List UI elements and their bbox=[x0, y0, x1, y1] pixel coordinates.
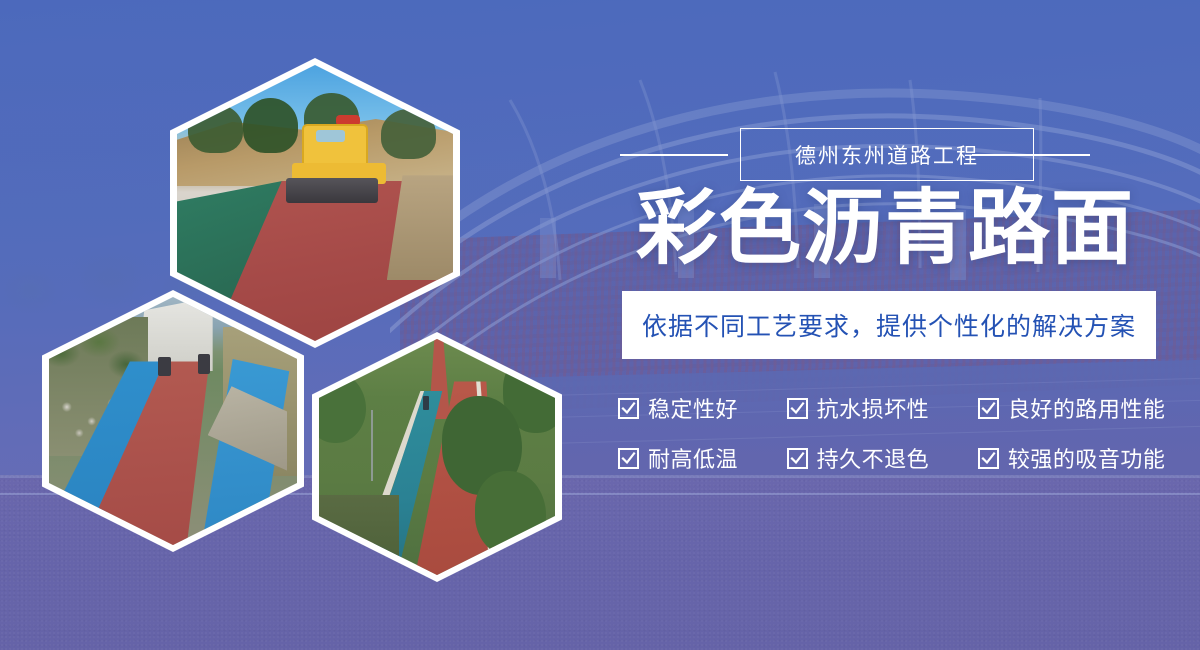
eyebrow-label: 德州东州道路工程 bbox=[795, 140, 979, 170]
feature-item: 抗水损坏性 bbox=[787, 392, 952, 424]
feature-label: 稳定性好 bbox=[648, 392, 738, 424]
feature-item: 良好的路用性能 bbox=[978, 392, 1188, 424]
check-icon bbox=[978, 398, 999, 419]
check-icon bbox=[787, 448, 808, 469]
brand-eyebrow: 德州东州道路工程 bbox=[620, 128, 1090, 182]
feature-item: 稳定性好 bbox=[618, 392, 761, 424]
feature-item: 耐高低温 bbox=[618, 442, 761, 474]
check-icon bbox=[978, 448, 999, 469]
eyebrow-rule-right bbox=[972, 154, 1090, 156]
road-roller-vehicle bbox=[290, 120, 389, 214]
feature-label: 耐高低温 bbox=[648, 442, 738, 474]
promo-banner: 德州东州道路工程 彩色沥青路面 依据不同工艺要求，提供个性化的解决方案 稳定性好… bbox=[0, 0, 1200, 650]
photo-road-roller-image bbox=[177, 65, 453, 341]
check-icon bbox=[618, 448, 639, 469]
subtitle-text: 依据不同工艺要求，提供个性化的解决方案 bbox=[642, 307, 1136, 343]
page-title: 彩色沥青路面 bbox=[636, 188, 1134, 270]
photo-park-greenway-image bbox=[319, 339, 555, 575]
photo-red-blue-lane-image bbox=[49, 297, 297, 545]
subtitle-band: 依据不同工艺要求，提供个性化的解决方案 bbox=[622, 291, 1156, 359]
feature-label: 抗水损坏性 bbox=[817, 392, 930, 424]
feature-item: 较强的吸音功能 bbox=[978, 442, 1188, 474]
feature-label: 持久不退色 bbox=[817, 442, 930, 474]
check-icon bbox=[618, 398, 639, 419]
check-icon bbox=[787, 398, 808, 419]
feature-item: 持久不退色 bbox=[787, 442, 952, 474]
feature-list: 稳定性好 抗水损坏性 良好的路用性能 耐高低温 持久不退色 bbox=[618, 392, 1188, 474]
feature-label: 较强的吸音功能 bbox=[1008, 442, 1166, 474]
eyebrow-rule-left bbox=[620, 154, 728, 156]
feature-label: 良好的路用性能 bbox=[1008, 392, 1166, 424]
